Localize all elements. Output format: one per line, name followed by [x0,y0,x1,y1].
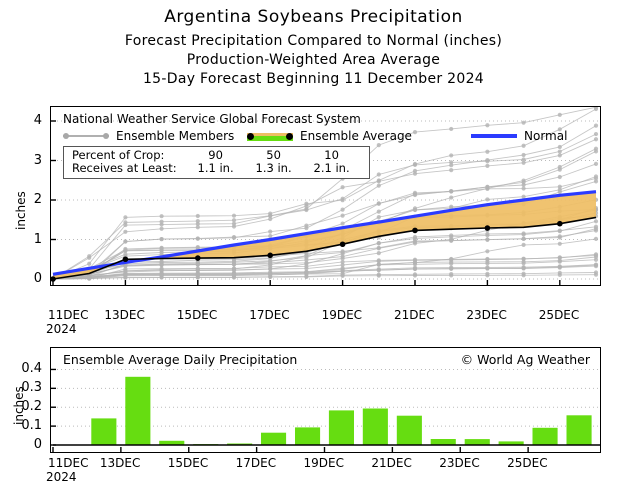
top-y-tick-4: 4 [16,113,42,128]
bar-19DEC [329,410,354,445]
bottom-x-tick-13DEC: 13DEC [100,456,140,470]
daily-precipitation-chart: Ensemble Average Daily Precipitation © W… [50,347,601,453]
subtitle-1: Forecast Precipitation Compared to Norma… [0,33,627,49]
legend-item-normal: Normal [471,129,567,143]
top-y-tick-2: 2 [16,192,42,207]
bottom-x-tick-15DEC: 15DEC [168,456,208,470]
bottom-x-tick-23DEC: 23DEC [439,456,479,470]
top-x-tick-25DEC: 25DEC [539,308,579,322]
legend-label-ensemble-average: Ensemble Average [300,129,412,143]
bottom-y-tick-0.3: 0.3 [8,380,42,395]
bar-25DEC [533,428,558,445]
normal-swatch-icon [471,134,517,138]
top-y-tick-1: 1 [16,232,42,247]
bottom-y-tick-0.4: 0.4 [8,361,42,376]
stats-amount-90: 1.1 in. [187,162,245,175]
bottom-y-tick-0: 0 [8,437,42,452]
ensemble-members-swatch-icon [63,132,109,141]
bottom-y-tick-0.2: 0.2 [8,399,42,414]
top-x-tick-19DEC: 19DEC [322,308,362,322]
bar-13DEC [125,377,150,445]
bar-17DEC [261,433,286,445]
bar-26DEC [567,415,592,445]
stats-row2-label: Receives at Least: [72,162,187,175]
legend-title: National Weather Service Global Forecast… [63,112,361,126]
legend-item-ensemble-average: Ensemble Average [247,129,412,143]
bar-18DEC [295,427,320,445]
percent-of-crop-stats-box: Percent of Crop: 90 50 10 Receives at Le… [63,146,370,179]
top-x-tick-15DEC: 15DEC [177,308,217,322]
bar-23DEC [465,439,490,445]
top-x-tick-23DEC: 23DEC [466,308,506,322]
bottom-x-tick-11DEC: 11DEC [48,456,88,470]
bottom-x-tick-19DEC: 19DEC [304,456,344,470]
page-title: Argentina Soybeans Precipitation [0,7,627,27]
bar-12DEC [91,418,116,445]
stats-amount-50: 1.3 in. [245,162,303,175]
subtitle-2: Production-Weighted Area Average [0,52,627,68]
top-x-tick-17DEC: 17DEC [249,308,289,322]
legend-item-ensemble-members: Ensemble Members [63,129,234,143]
bar-22DEC [431,439,456,445]
bottom-x-tick-17DEC: 17DEC [236,456,276,470]
bar-21DEC [397,416,422,445]
cumulative-precipitation-chart: National Weather Service Global Forecast… [50,106,601,286]
bar-20DEC [363,409,388,446]
top-x-tick-13DEC: 13DEC [104,308,144,322]
subtitle-3: 15-Day Forecast Beginning 11 December 20… [0,71,627,87]
ensemble-average-swatch-icon [247,132,293,142]
legend-label-normal: Normal [524,129,567,143]
top-year-label: 2024 [46,322,77,336]
copyright-label: © World Ag Weather [461,352,590,367]
legend-label-ensemble-members: Ensemble Members [116,129,234,143]
bottom-x-tick-21DEC: 21DEC [371,456,411,470]
bottom-panel-caption: Ensemble Average Daily Precipitation [63,352,297,367]
top-y-tick-3: 3 [16,153,42,168]
chart-titles: Argentina Soybeans Precipitation Forecas… [0,0,627,87]
bottom-year-label: 2024 [46,470,77,484]
stats-amount-10: 2.1 in. [303,162,361,175]
top-y-tick-0: 0 [16,271,42,286]
top-x-tick-21DEC: 21DEC [394,308,434,322]
top-x-tick-11DEC: 11DEC [48,308,88,322]
bottom-x-tick-25DEC: 25DEC [507,456,547,470]
bottom-y-tick-0.1: 0.1 [8,418,42,433]
